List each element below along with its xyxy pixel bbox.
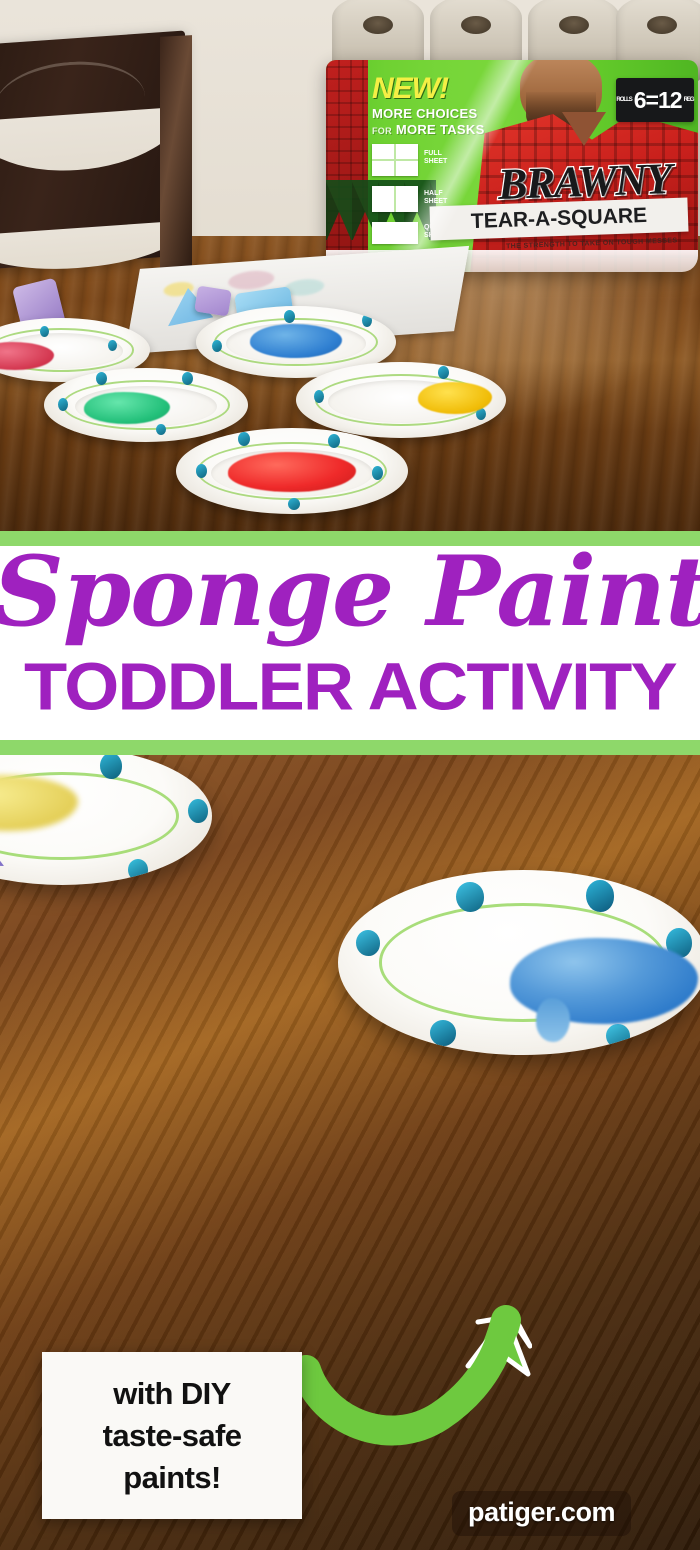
plate-dot [372, 466, 383, 480]
plate-dot [356, 930, 380, 956]
package-benefit-line-2: FOR MORE TASKS [372, 122, 485, 137]
plate-dot [314, 390, 324, 403]
callout-box: with DIY taste-safe paints! [42, 1352, 302, 1519]
plate-dot [456, 882, 484, 912]
brawny-man-collar [562, 112, 606, 146]
plate-dot [288, 498, 300, 510]
count-badge-sub-left: ROLLS [616, 97, 631, 103]
plate-dot [284, 310, 295, 323]
package-benefit-line-1: MORE CHOICES [372, 106, 477, 121]
count-badge-value: 6=12 [634, 87, 682, 114]
plate-dot [430, 1020, 456, 1046]
full-sheet-label: FULL SHEET [424, 150, 447, 166]
paint-blob-yellow [418, 382, 492, 414]
full-sheet-icon [372, 144, 418, 176]
plate-dot [196, 464, 207, 478]
plate-dot [40, 326, 49, 337]
half-sheet-label: HALF SHEET [424, 190, 447, 206]
callout-line-1: with DIY [113, 1373, 230, 1415]
roll-core [461, 16, 491, 34]
top-photo: NEW! MORE CHOICES FOR MORE TASKS FULL SH… [0, 0, 700, 531]
paint-drip-blue [536, 998, 570, 1042]
plate-dot [606, 1024, 630, 1048]
plate-dot [212, 340, 222, 352]
pin-script-title: Sponge Paint [0, 533, 700, 651]
product-line-label: TEAR-A-SQUARE [471, 204, 648, 234]
count-badge-sub-right: REG [684, 97, 694, 103]
plate-dot [586, 880, 614, 912]
plate-red-paint [176, 428, 408, 514]
plate-dot [438, 366, 449, 379]
roll-core [647, 16, 677, 34]
plate-yellow-back [0, 755, 212, 885]
site-watermark: patiger.com [452, 1491, 631, 1536]
roll-core [363, 16, 393, 34]
plate-dot [58, 398, 68, 411]
package-benefit-for: FOR [372, 126, 392, 136]
paint-blob-red [228, 452, 356, 492]
plate-dot [108, 340, 117, 351]
plate-dot [156, 424, 166, 435]
sponge-lavender-small [194, 286, 232, 317]
paint-blob-green [84, 392, 170, 424]
package-benefit-more-tasks: MORE TASKS [396, 122, 485, 137]
pin-block-title: TODDLER ACTIVITY [0, 652, 700, 723]
half-sheet-icon [372, 186, 418, 212]
package-new-flash: NEW! [372, 72, 448, 106]
chair-post [160, 35, 192, 277]
banner-stripe-bottom [0, 740, 700, 755]
plate-green-paint [44, 368, 248, 442]
quarter-sheet-icon [372, 222, 418, 244]
plate-dot [100, 755, 122, 779]
curved-arrow-pointing-up-right [292, 1300, 532, 1465]
plate-dot [238, 432, 250, 446]
callout-line-3: paints! [123, 1457, 220, 1499]
brawny-paper-towel-package: NEW! MORE CHOICES FOR MORE TASKS FULL SH… [326, 0, 698, 294]
roll-core [559, 16, 589, 34]
plate-yellow-paint [296, 362, 506, 438]
plate-dot [188, 799, 208, 823]
title-banner: Sponge Paint TODDLER ACTIVITY [0, 531, 700, 755]
plate-dot [96, 372, 107, 385]
plate-dot [328, 434, 340, 448]
package-wrapper: NEW! MORE CHOICES FOR MORE TASKS FULL SH… [326, 60, 698, 272]
package-count-badge: ROLLS 6=12 REG [616, 78, 694, 122]
callout-line-2: taste-safe [103, 1415, 242, 1457]
plate-blue-front [338, 870, 700, 1055]
pinterest-pin-graphic: NEW! MORE CHOICES FOR MORE TASKS FULL SH… [0, 0, 700, 1550]
plate-dot [182, 372, 193, 385]
package-sheet-size-diagram: FULL SHEET HALF SHEET QUARTER SHEET [372, 144, 428, 254]
plate-dot [128, 859, 148, 881]
paint-blob-blue [250, 324, 342, 358]
plate-dot [362, 314, 372, 327]
